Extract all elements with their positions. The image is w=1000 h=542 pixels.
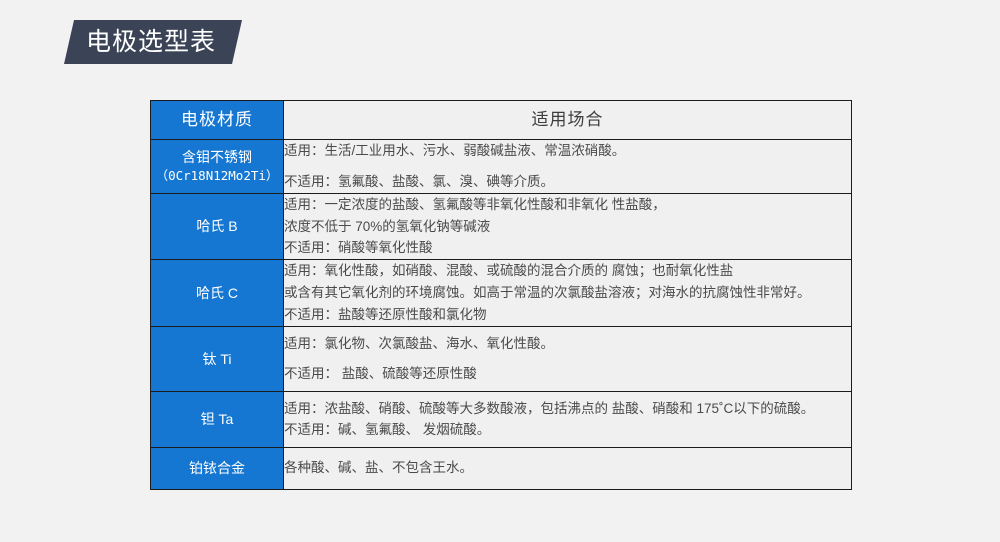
usage-line: 不适用： 盐酸、硫酸等还原性酸 — [284, 363, 851, 385]
material-code: （0Cr18N12Mo2Ti） — [151, 167, 283, 185]
usage-cell: 适用：浓盐酸、硝酸、硫酸等大多数酸液，包括沸点的 盐酸、硝酸和 175˚C以下的… — [284, 391, 852, 447]
column-header-material: 电极材质 — [151, 101, 284, 140]
usage-line: 不适用：盐酸等还原性酸和氯化物 — [284, 304, 851, 326]
usage-line: 适用：氯化物、次氯酸盐、海水、氧化性酸。 — [284, 333, 851, 355]
material-name: 铂铱合金 — [151, 458, 283, 478]
usage-cell: 适用：氯化物、次氯酸盐、海水、氧化性酸。不适用： 盐酸、硫酸等还原性酸 — [284, 326, 852, 391]
usage-cell: 各种酸、碱、盐、不包含王水。 — [284, 447, 852, 489]
usage-line: 各种酸、碱、盐、不包含王水。 — [284, 457, 851, 479]
usage-line: 浓度不低于 70%的氢氧化钠等碱液 — [284, 216, 851, 238]
usage-line: 适用：生活/工业用水、污水、弱酸碱盐液、常温浓硝酸。 — [284, 140, 851, 162]
usage-line: 不适用：碱、氢氟酸、 发烟硫酸。 — [284, 419, 851, 441]
page-title-banner: 电极选型表 — [64, 20, 242, 64]
usage-line: 适用：氧化性酸，如硝酸、混酸、或硫酸的混合介质的 腐蚀；也耐氧化性盐 — [284, 260, 851, 282]
table-header-row: 电极材质 适用场合 — [151, 101, 852, 140]
material-name: 含钼不锈钢 — [151, 147, 283, 167]
column-header-usage: 适用场合 — [284, 101, 852, 140]
usage-line: 或含有其它氧化剂的环境腐蚀。如高于常温的次氯酸盐溶液；对海水的抗腐蚀性非常好。 — [284, 282, 851, 304]
usage-line: 适用：浓盐酸、硝酸、硫酸等大多数酸液，包括沸点的 盐酸、硝酸和 175˚C以下的… — [284, 398, 851, 420]
usage-cell: 适用：生活/工业用水、污水、弱酸碱盐液、常温浓硝酸。不适用：氢氟酸、盐酸、氯、溴… — [284, 140, 852, 194]
table-row: 钛 Ti适用：氯化物、次氯酸盐、海水、氧化性酸。不适用： 盐酸、硫酸等还原性酸 — [151, 326, 852, 391]
page-title: 电极选型表 — [86, 30, 216, 55]
material-name: 哈氏 B — [151, 216, 283, 236]
material-name: 钛 Ti — [151, 349, 283, 369]
usage-cell: 适用：氧化性酸，如硝酸、混酸、或硫酸的混合介质的 腐蚀；也耐氧化性盐或含有其它氧… — [284, 260, 852, 327]
material-cell: 哈氏 C — [151, 260, 284, 327]
material-cell: 哈氏 B — [151, 193, 284, 260]
electrode-selection-table: 电极材质 适用场合 含钼不锈钢（0Cr18N12Mo2Ti）适用：生活/工业用水… — [150, 100, 852, 490]
usage-cell: 适用：一定浓度的盐酸、氢氟酸等非氧化性酸和非氧化 性盐酸，浓度不低于 70%的氢… — [284, 193, 852, 260]
table-row: 钽 Ta适用：浓盐酸、硝酸、硫酸等大多数酸液，包括沸点的 盐酸、硝酸和 175˚… — [151, 391, 852, 447]
table-row: 哈氏 B适用：一定浓度的盐酸、氢氟酸等非氧化性酸和非氧化 性盐酸，浓度不低于 7… — [151, 193, 852, 260]
material-cell: 钽 Ta — [151, 391, 284, 447]
material-cell: 钛 Ti — [151, 326, 284, 391]
material-name: 哈氏 C — [151, 283, 283, 303]
material-cell: 铂铱合金 — [151, 447, 284, 489]
table-row: 含钼不锈钢（0Cr18N12Mo2Ti）适用：生活/工业用水、污水、弱酸碱盐液、… — [151, 140, 852, 194]
usage-line: 不适用：硝酸等氧化性酸 — [284, 237, 851, 259]
material-cell: 含钼不锈钢（0Cr18N12Mo2Ti） — [151, 140, 284, 194]
usage-line: 不适用：氢氟酸、盐酸、氯、溴、碘等介质。 — [284, 171, 851, 193]
table-row: 铂铱合金各种酸、碱、盐、不包含王水。 — [151, 447, 852, 489]
usage-line: 适用：一定浓度的盐酸、氢氟酸等非氧化性酸和非氧化 性盐酸， — [284, 194, 851, 216]
table-row: 哈氏 C适用：氧化性酸，如硝酸、混酸、或硫酸的混合介质的 腐蚀；也耐氧化性盐或含… — [151, 260, 852, 327]
material-name: 钽 Ta — [151, 409, 283, 429]
